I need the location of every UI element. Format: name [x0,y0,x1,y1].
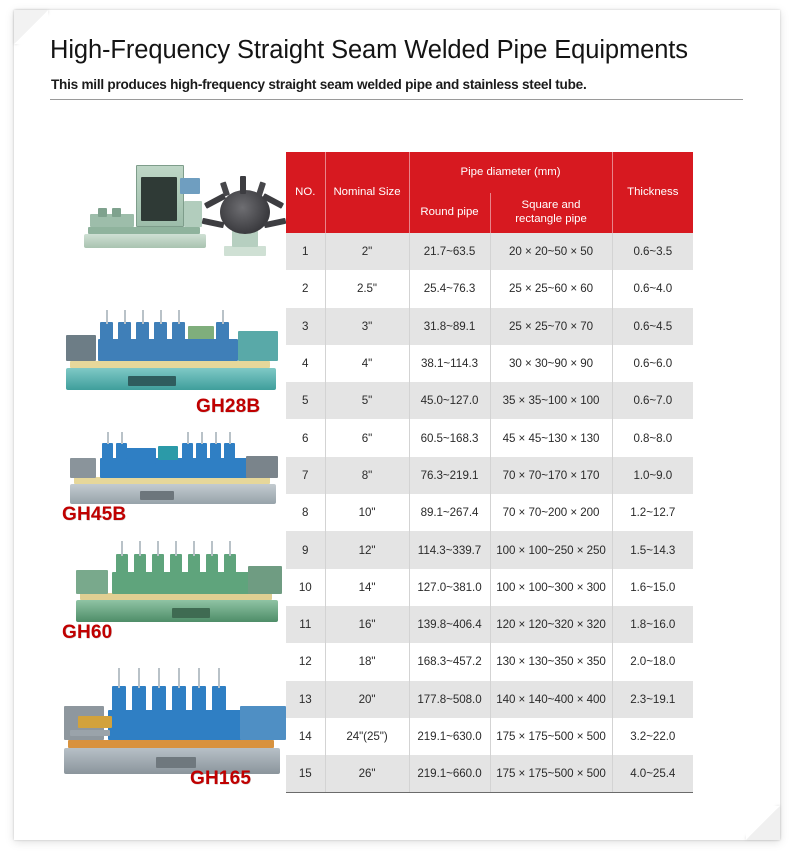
cell-nominal-size: 10" [325,494,409,531]
header-divider [50,99,743,100]
table-row: 44"38.1~114.330 × 30~90 × 900.6~6.0 [286,345,693,382]
table-row: 1424"(25")219.1~630.0175 × 175~500 × 500… [286,718,693,755]
machine-illustration-gh45b-line [70,430,284,504]
cell-thickness: 1.5~14.3 [612,531,693,568]
header-square-rectangle-pipe-line2: rectangle pipe [515,213,587,225]
cell-thickness: 0.6~7.0 [612,382,693,419]
cell-thickness: 4.0~25.4 [612,755,693,793]
header-square-rectangle-pipe-line1: Square and [522,199,581,211]
product-block-gh45b: GH45B [62,430,287,542]
cell-round-pipe: 177.8~508.0 [409,681,490,718]
cell-round-pipe: 60.5~168.3 [409,419,490,456]
cell-square-rectangle-pipe: 35 × 35~100 × 100 [490,382,612,419]
table-row: 810"89.1~267.470 × 70~200 × 2001.2~12.7 [286,494,693,531]
table-row: 1014"127.0~381.0100 × 100~300 × 3001.6~1… [286,569,693,606]
cell-nominal-size: 5" [325,382,409,419]
table-row: 1218"168.3~457.2130 × 130~350 × 3502.0~1… [286,643,693,680]
cell-no: 3 [286,308,325,345]
cell-round-pipe: 139.8~406.4 [409,606,490,643]
cell-no: 2 [286,270,325,307]
cell-thickness: 0.6~3.5 [612,233,693,270]
cell-no: 13 [286,681,325,718]
cell-nominal-size: 14" [325,569,409,606]
page-title: High-Frequency Straight Seam Welded Pipe… [50,36,750,65]
table-row: 12"21.7~63.520 × 20~50 × 500.6~3.5 [286,233,693,270]
cell-nominal-size: 2" [325,233,409,270]
cell-square-rectangle-pipe: 20 × 20~50 × 50 [490,233,612,270]
header-pipe-diameter: Pipe diameter (mm) [409,152,612,193]
cell-square-rectangle-pipe: 30 × 30~90 × 90 [490,345,612,382]
cell-round-pipe: 114.3~339.7 [409,531,490,568]
cell-no: 5 [286,382,325,419]
header-nominal-size: Nominal Size [325,152,409,233]
cell-thickness: 1.6~15.0 [612,569,693,606]
cell-thickness: 2.3~19.1 [612,681,693,718]
table-row: 78"76.3~219.170 × 70~170 × 1701.0~9.0 [286,457,693,494]
page-subtitle: This mill produces high-frequency straig… [51,77,751,92]
cell-nominal-size: 3" [325,308,409,345]
cell-round-pipe: 76.3~219.1 [409,457,490,494]
header-square-rectangle-pipe: Square and rectangle pipe [490,193,612,233]
cell-round-pipe: 89.1~267.4 [409,494,490,531]
cell-square-rectangle-pipe: 25 × 25~60 × 60 [490,270,612,307]
table-row: 912"114.3~339.7100 × 100~250 × 2501.5~14… [286,531,693,568]
product-label-gh28b: GH28B [196,396,260,418]
table-head: NO. Nominal Size Pipe diameter (mm) Thic… [286,152,693,233]
table-row: 55"45.0~127.035 × 35~100 × 1000.6~7.0 [286,382,693,419]
cell-round-pipe: 38.1~114.3 [409,345,490,382]
cell-thickness: 2.0~18.0 [612,643,693,680]
table-row: 22.5"25.4~76.325 × 25~60 × 600.6~4.0 [286,270,693,307]
cell-round-pipe: 127.0~381.0 [409,569,490,606]
cell-nominal-size: 24"(25") [325,718,409,755]
product-label-gh165: GH165 [190,768,251,790]
machine-illustration-gh60-line [76,538,286,622]
cell-thickness: 1.2~12.7 [612,494,693,531]
cell-square-rectangle-pipe: 25 × 25~70 × 70 [490,308,612,345]
cell-nominal-size: 20" [325,681,409,718]
header-thickness: Thickness [612,152,693,233]
header-no: NO. [286,152,325,233]
cell-no: 11 [286,606,325,643]
cell-square-rectangle-pipe: 70 × 70~170 × 170 [490,457,612,494]
cell-square-rectangle-pipe: 140 × 140~400 × 400 [490,681,612,718]
cell-thickness: 1.0~9.0 [612,457,693,494]
header-round-pipe: Round pipe [409,193,490,233]
cell-no: 14 [286,718,325,755]
cell-no: 1 [286,233,325,270]
cell-round-pipe: 25.4~76.3 [409,270,490,307]
table-row: 1526"219.1~660.0175 × 175~500 × 5004.0~2… [286,755,693,793]
cell-thickness: 0.6~6.0 [612,345,693,382]
table-body: 12"21.7~63.520 × 20~50 × 500.6~3.522.5"2… [286,233,693,793]
cell-nominal-size: 26" [325,755,409,793]
machine-illustration-gh28b-line [66,304,284,390]
machine-illustration-roller-cluster [202,176,286,256]
cell-square-rectangle-pipe: 100 × 100~250 × 250 [490,531,612,568]
cell-thickness: 0.6~4.5 [612,308,693,345]
product-block-gh28b: GH28B [62,158,287,413]
cell-thickness: 0.8~8.0 [612,419,693,456]
cell-round-pipe: 168.3~457.2 [409,643,490,680]
cell-nominal-size: 2.5" [325,270,409,307]
cell-square-rectangle-pipe: 175 × 175~500 × 500 [490,718,612,755]
cell-nominal-size: 4" [325,345,409,382]
cell-no: 6 [286,419,325,456]
specification-table: NO. Nominal Size Pipe diameter (mm) Thic… [286,152,693,793]
brochure-page: High-Frequency Straight Seam Welded Pipe… [0,0,794,851]
cell-nominal-size: 6" [325,419,409,456]
cell-square-rectangle-pipe: 175 × 175~500 × 500 [490,755,612,793]
cell-square-rectangle-pipe: 120 × 120~320 × 320 [490,606,612,643]
cell-round-pipe: 45.0~127.0 [409,382,490,419]
cell-no: 10 [286,569,325,606]
page-curl-bottom-right-mask [746,806,780,840]
cell-thickness: 3.2~22.0 [612,718,693,755]
cell-nominal-size: 8" [325,457,409,494]
specification-table-wrapper: NO. Nominal Size Pipe diameter (mm) Thic… [286,152,693,793]
page-curl-top-left-mask [14,10,48,44]
machine-illustration-gh28b-mill [84,160,214,248]
cell-no: 4 [286,345,325,382]
table-row: 33"31.8~89.125 × 25~70 × 700.6~4.5 [286,308,693,345]
cell-nominal-size: 16" [325,606,409,643]
cell-no: 9 [286,531,325,568]
product-label-gh45b: GH45B [62,504,126,526]
table-row: 1116"139.8~406.4120 × 120~320 × 3201.8~1… [286,606,693,643]
machine-illustration-gh165-line [64,664,288,774]
cell-round-pipe: 31.8~89.1 [409,308,490,345]
table-row: 1320"177.8~508.0140 × 140~400 × 4002.3~1… [286,681,693,718]
cell-no: 7 [286,457,325,494]
cell-nominal-size: 12" [325,531,409,568]
cell-square-rectangle-pipe: 130 × 130~350 × 350 [490,643,612,680]
cell-nominal-size: 18" [325,643,409,680]
cell-no: 15 [286,755,325,793]
product-block-gh165: GH165 [62,664,292,804]
cell-round-pipe: 21.7~63.5 [409,233,490,270]
cell-no: 12 [286,643,325,680]
product-block-gh60: GH60 [62,538,287,668]
table-row: 66"60.5~168.345 × 45~130 × 1300.8~8.0 [286,419,693,456]
cell-round-pipe: 219.1~660.0 [409,755,490,793]
cell-thickness: 0.6~4.0 [612,270,693,307]
cell-square-rectangle-pipe: 70 × 70~200 × 200 [490,494,612,531]
cell-round-pipe: 219.1~630.0 [409,718,490,755]
cell-square-rectangle-pipe: 100 × 100~300 × 300 [490,569,612,606]
cell-no: 8 [286,494,325,531]
cell-thickness: 1.8~16.0 [612,606,693,643]
product-label-gh60: GH60 [62,622,112,644]
cell-square-rectangle-pipe: 45 × 45~130 × 130 [490,419,612,456]
